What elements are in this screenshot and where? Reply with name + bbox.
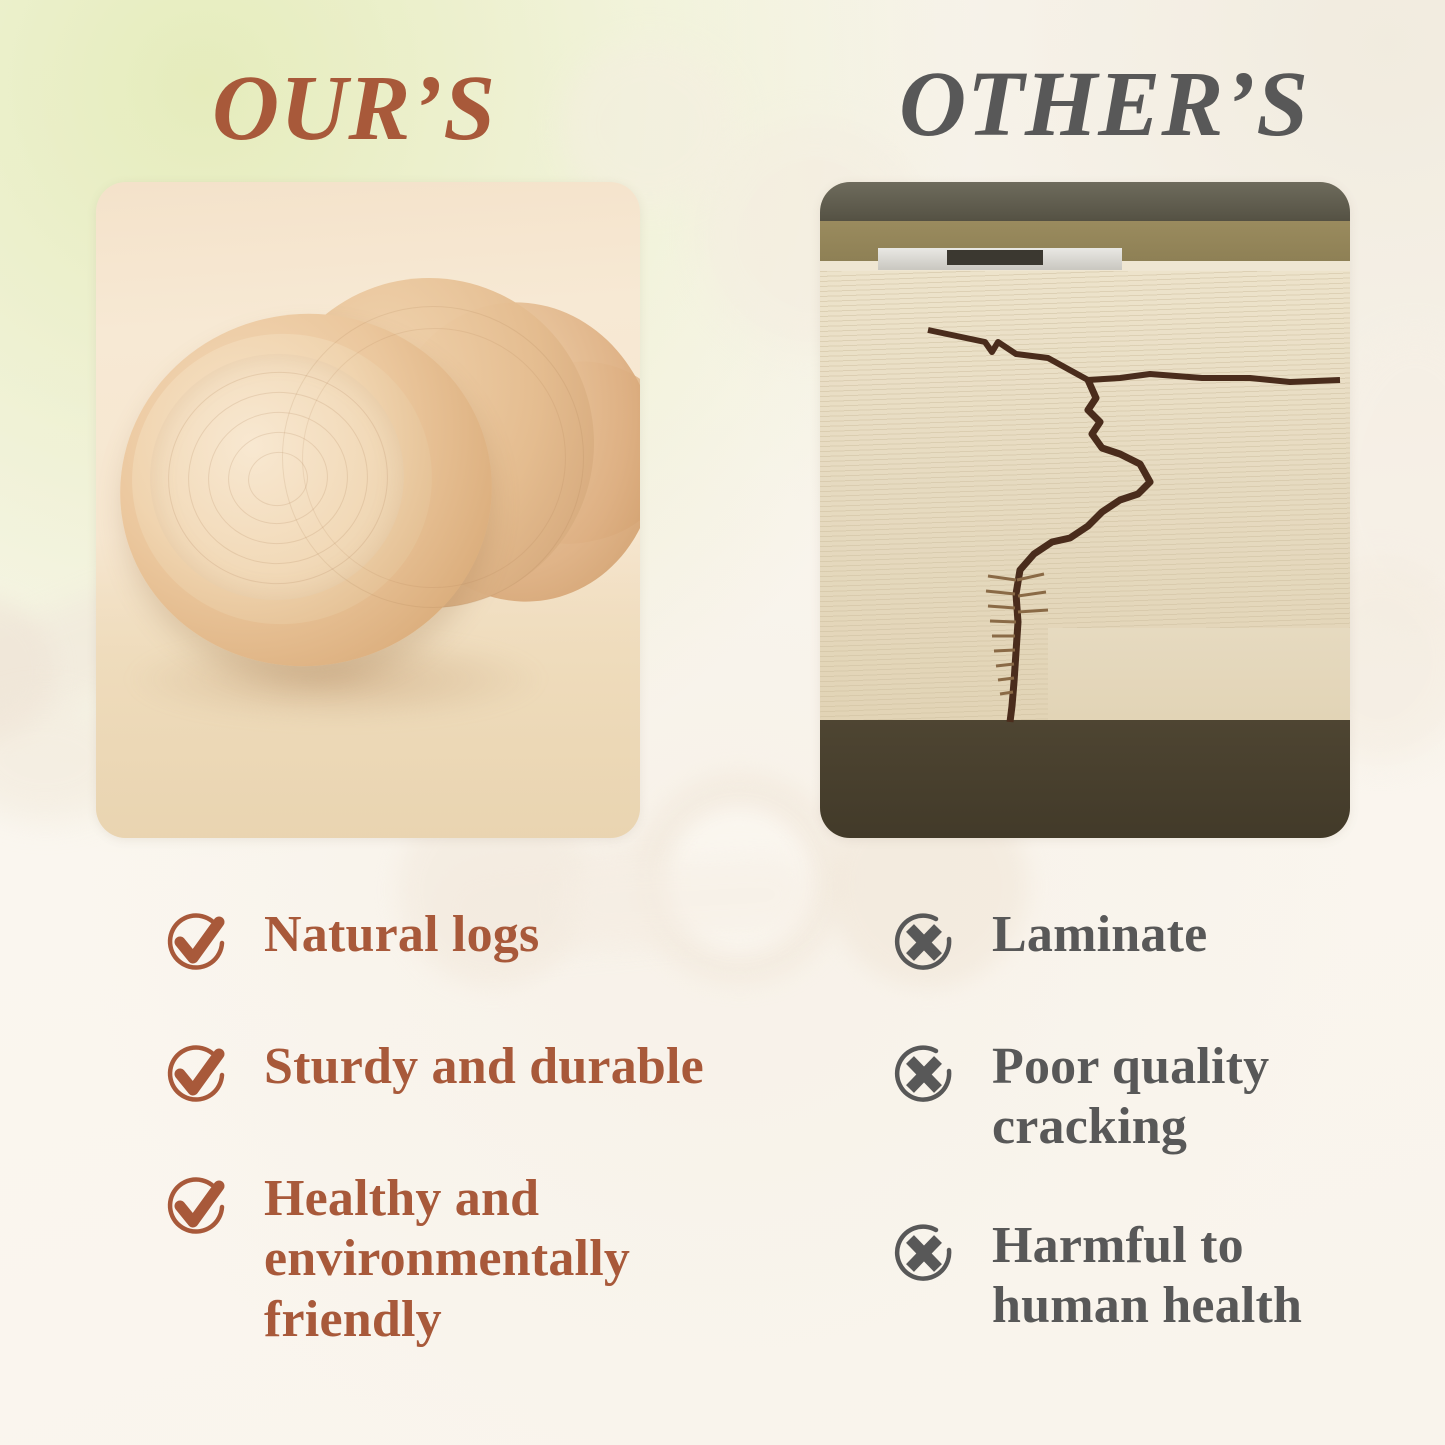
circle-check-icon xyxy=(160,1171,232,1243)
benefits-list-ours: Natural logs Sturdy and durable Healthy … xyxy=(160,905,720,1350)
list-item: Natural logs xyxy=(160,905,720,979)
list-item-label: Sturdy and durable xyxy=(264,1037,704,1097)
list-item-label: Harmful to human health xyxy=(992,1216,1358,1337)
list-item: Harmful to human health xyxy=(888,1216,1358,1337)
photo-card-ours xyxy=(96,182,640,838)
list-item: Laminate xyxy=(888,905,1358,979)
circle-check-icon xyxy=(160,1039,232,1111)
heading-ours: OUR’S xyxy=(212,62,496,155)
circle-x-icon xyxy=(888,1039,960,1111)
drawbacks-list-others: Laminate Poor quality cracking Harmful t… xyxy=(888,905,1358,1336)
list-item-label: Laminate xyxy=(992,905,1207,965)
list-item-label: Poor quality cracking xyxy=(992,1037,1358,1158)
list-item: Healthy and environmentally friendly xyxy=(160,1169,720,1350)
list-item-label: Natural logs xyxy=(264,905,539,965)
list-item: Poor quality cracking xyxy=(888,1037,1358,1158)
list-item-label: Healthy and environmentally friendly xyxy=(264,1169,720,1350)
heading-others: OTHER’S xyxy=(899,58,1309,151)
photo-card-others xyxy=(820,182,1350,838)
circle-check-icon xyxy=(160,907,232,979)
crack-line xyxy=(820,182,1350,838)
list-item: Sturdy and durable xyxy=(160,1037,720,1111)
circle-x-icon xyxy=(888,1218,960,1290)
natural-beech-wood-rattle-photo xyxy=(96,182,640,838)
circle-x-icon xyxy=(888,907,960,979)
cracked-laminate-board-photo xyxy=(820,182,1350,838)
